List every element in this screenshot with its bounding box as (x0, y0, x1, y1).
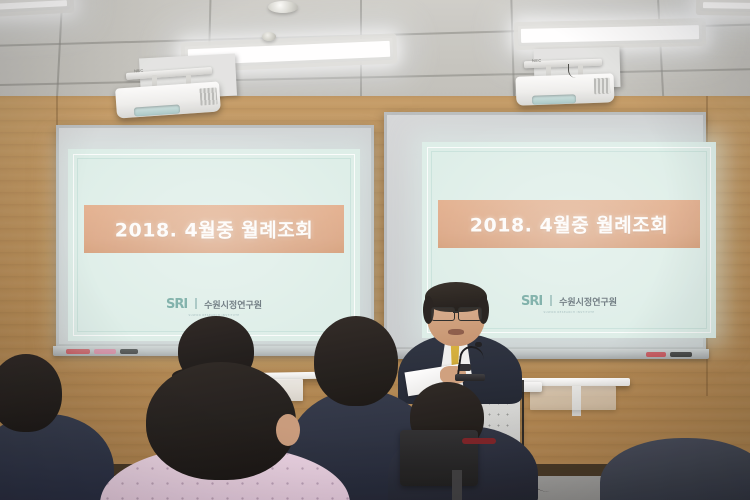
logo-divider (550, 295, 552, 306)
conference-room-photo: 2018. 4월중 월례조회 SRI 수원시정연구원 SUWON RESEARC… (0, 0, 750, 500)
gooseneck-microphone[interactable] (455, 340, 495, 386)
chair-post (452, 470, 462, 500)
presenter-mouth (448, 329, 464, 335)
projector-brand-label: NEC (532, 58, 542, 63)
right-projector: NEC (512, 46, 632, 112)
chair-accent (462, 438, 496, 444)
projector-vent (199, 87, 217, 105)
slide-title-band: 2018. 4월중 월례조회 (84, 205, 344, 253)
logo-divider (195, 298, 197, 309)
ceiling-rail (657, 0, 665, 110)
attendee-dark-suit-left (0, 354, 114, 500)
marker-red[interactable] (646, 352, 666, 357)
eyeglasses-bridge (453, 311, 458, 313)
ceiling-light-right (518, 22, 702, 46)
attendee-head (0, 354, 62, 432)
slide-headline: 2018. 4월중 월례조회 (84, 216, 344, 243)
logo-korean-name: 수원시정연구원 (204, 301, 262, 311)
ceiling-speaker-icon (268, 1, 298, 13)
smoke-detector-icon (262, 32, 276, 41)
attendee-head (146, 362, 296, 480)
ceiling-light-far-left (0, 0, 70, 15)
left-screen: 2018. 4월중 월례조회 SRI 수원시정연구원 SUWON RESEARC… (68, 149, 360, 341)
marker-black[interactable] (670, 352, 692, 357)
logo-korean-name: 수원시정연구원 (559, 298, 617, 308)
slide-title-band: 2018. 4월중 월례조회 (438, 200, 700, 248)
attendee-grey-suit-right (600, 424, 750, 500)
projector-lens (134, 104, 181, 116)
attendee-torso (600, 438, 750, 500)
left-projector: NEC (112, 54, 242, 122)
marker-black[interactable] (120, 349, 138, 354)
slide-headline: 2018. 4월중 월례조회 (438, 211, 700, 238)
attendee-ear (276, 414, 300, 446)
ceiling-light-far-right (700, 0, 750, 13)
projector-vent (594, 78, 611, 95)
whiteboard-left: 2018. 4월중 월례조회 SRI 수원시정연구원 SUWON RESEARC… (56, 125, 374, 347)
eyeglasses-right-lens (458, 307, 482, 321)
logo-mark: SRI (166, 297, 187, 312)
projector-lens (532, 94, 576, 105)
attendee-pink-shirt (100, 362, 350, 500)
projector-brand-label: NEC (134, 68, 144, 74)
slide-logo: SRI 수원시정연구원 SUWON RESEARCH INSTITUTE (68, 295, 360, 317)
projector-cable (568, 64, 581, 78)
